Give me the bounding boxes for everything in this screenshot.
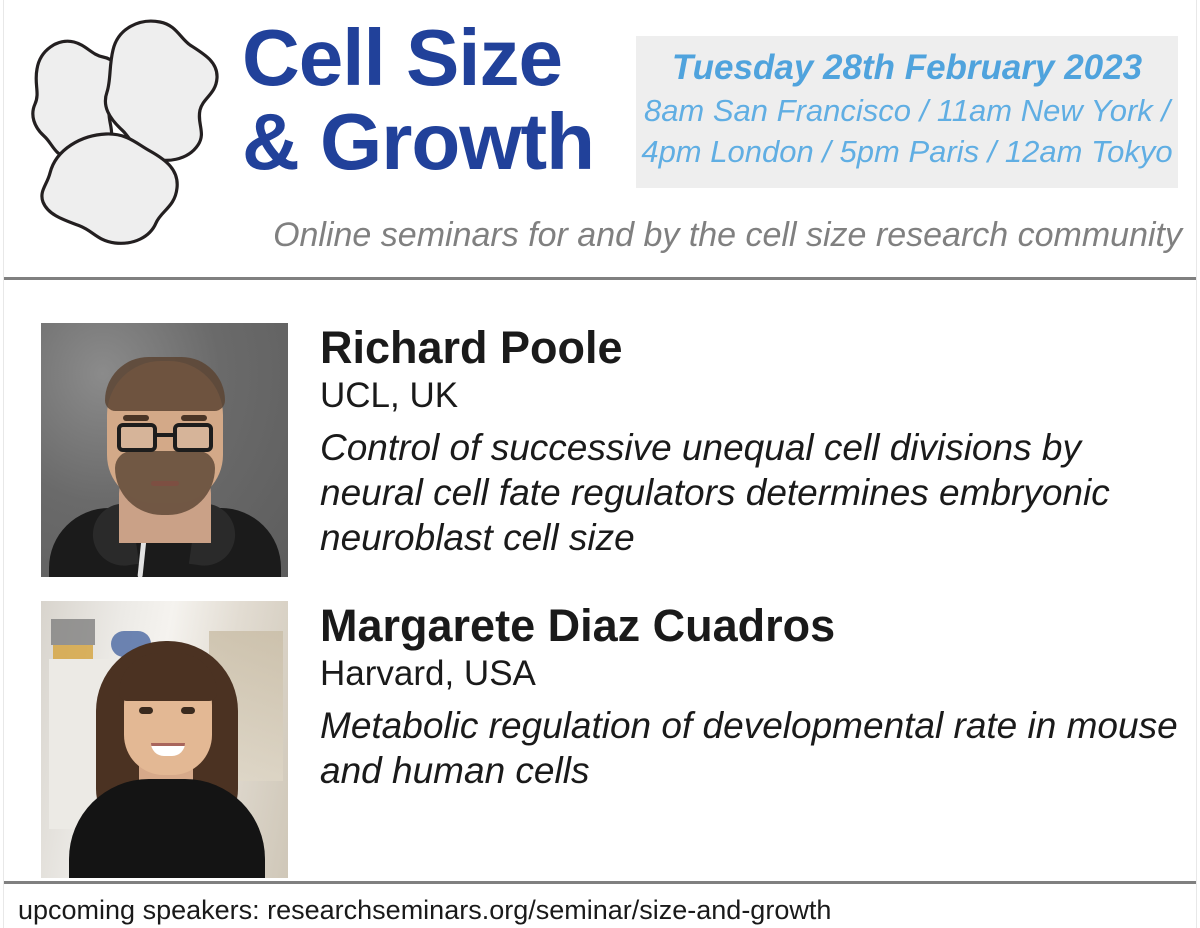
speaker-talk-title: Metabolic regulation of developmental ra… [320,703,1188,793]
footer-upcoming-speakers-link[interactable]: upcoming speakers: researchseminars.org/… [18,893,831,927]
speaker-details: Margarete Diaz Cuadros Harvard, USA Meta… [320,601,1188,793]
brand-title-line2: & Growth [242,100,642,184]
speaker-affiliation: Harvard, USA [320,651,1188,697]
photo-hair [105,357,225,411]
seminar-poster: Cell Size & Growth Tuesday 28th February… [0,0,1200,928]
photo-eye-left [139,707,153,714]
brand-title: Cell Size & Growth [242,16,642,184]
brand-title-line1: Cell Size [242,13,562,102]
speaker-details: Richard Poole UCL, UK Control of success… [320,323,1188,560]
photo-glasses-right [173,423,213,452]
speaker-affiliation: UCL, UK [320,373,1188,419]
photo-lab-label [53,645,93,659]
speaker-name: Margarete Diaz Cuadros [320,601,1188,651]
speaker-talk-title: Control of successive unequal cell divis… [320,425,1188,560]
photo-glasses-left [117,423,157,452]
seminar-date: Tuesday 28th February 2023 [636,46,1178,90]
speaker-name: Richard Poole [320,323,1188,373]
photo-mouth [151,481,179,486]
photo-eye-right [181,707,195,714]
photo-lab-box [51,619,95,645]
timezone-line-2: 4pm London / 5pm Paris / 12am Tokyo [636,131,1178,172]
speaker-photo [41,601,288,878]
speaker-photo [41,323,288,577]
timezone-line-1: 8am San Francisco / 11am New York / [636,90,1178,131]
tagline: Online seminars for and by the cell size… [0,215,1182,255]
photo-brow-right [181,415,207,421]
photo-glasses-bridge [157,433,173,437]
speakers-section: Richard Poole UCL, UK Control of success… [0,280,1200,880]
poster-header: Cell Size & Growth Tuesday 28th February… [0,0,1200,278]
photo-brow-left [123,415,149,421]
date-time-panel: Tuesday 28th February 2023 8am San Franc… [636,36,1178,188]
footer-divider [4,881,1196,884]
